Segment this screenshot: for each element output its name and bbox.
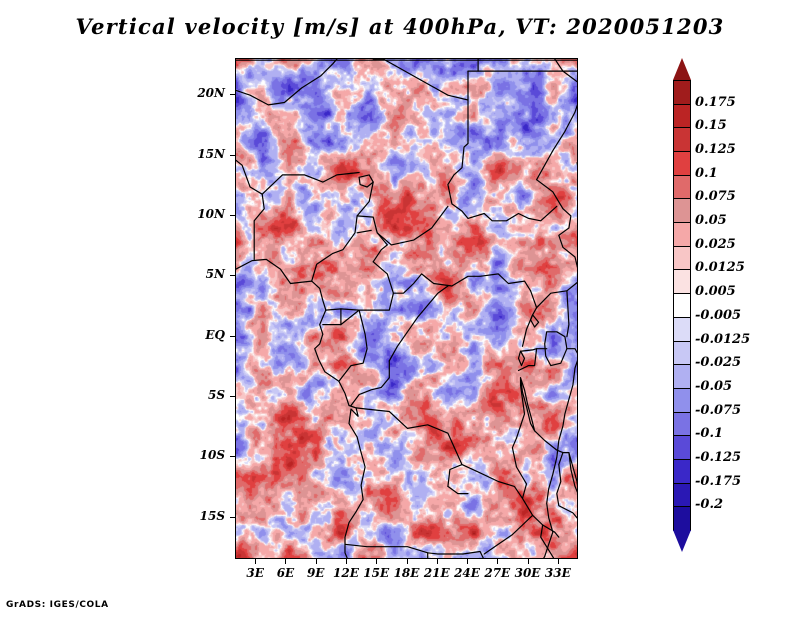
map-boundary-line [523, 498, 559, 537]
latitude-tick-mark [230, 94, 235, 95]
map-boundary-line [463, 552, 484, 560]
map-boundary-line [262, 173, 359, 195]
longitude-tick-mark [437, 559, 438, 564]
colorbar-tick-label: 0.175 [695, 95, 736, 110]
colorbar-tick-label: -0.05 [695, 379, 732, 394]
colorbar-tick-label: -0.1 [695, 426, 723, 441]
latitude-tick-label: 15N [179, 147, 225, 161]
colorbar-band [673, 80, 691, 105]
colorbar-band [673, 506, 691, 531]
colorbar-band [673, 388, 691, 413]
map-boundary-line [377, 206, 448, 245]
map-boundary-line [326, 293, 394, 310]
map-boundary-line [519, 351, 525, 366]
latitude-tick-label: EQ [179, 328, 225, 342]
colorbar-tick-label: -0.025 [695, 355, 741, 370]
colorbar-band [673, 175, 691, 200]
colorbar-tick-label: 0.05 [695, 213, 727, 228]
map-boundary-line [535, 431, 569, 453]
map-boundary-line [468, 206, 557, 221]
latitude-tick-label: 5S [179, 388, 225, 402]
colorbar-band [673, 459, 691, 484]
colorbar-band [673, 104, 691, 129]
map-boundary-line [448, 486, 468, 493]
colorbar-tick-label: -0.0125 [695, 332, 750, 347]
footer-credit: GrADS: IGES/COLA [6, 600, 109, 610]
latitude-tick-mark [230, 456, 235, 457]
colorbar-tick-label: 0.15 [695, 118, 727, 133]
colorbar-band [673, 151, 691, 176]
map-boundary-line [357, 230, 371, 232]
colorbar-tick-label: -0.175 [695, 474, 741, 489]
latitude-tick-label: 20N [179, 86, 225, 100]
map-boundary-line [569, 453, 578, 496]
colorbar-tick-label: 0.005 [695, 284, 736, 299]
map-boundary-line [577, 163, 578, 173]
page-title: Vertical velocity [m/s] at 400hPa, VT: 2… [0, 14, 800, 39]
map-boundary-line [567, 291, 569, 337]
latitude-tick-label: 10N [179, 207, 225, 221]
colorbar-band [673, 198, 691, 223]
map-boundary-line [462, 438, 527, 498]
colorbar-band [673, 222, 691, 247]
map-boundary-line [373, 245, 387, 262]
map-boundary-line [356, 408, 462, 487]
latitude-tick-label: 10S [179, 448, 225, 462]
colorbar-tick-label: -0.2 [695, 497, 723, 512]
map-boundary-line [339, 310, 367, 381]
latitude-tick-mark [230, 155, 235, 156]
colorbar-min-arrow [673, 530, 691, 552]
colorbar-tick-label: 0.0125 [695, 260, 745, 275]
map-boundary-line [351, 286, 448, 406]
map-boundary-line [236, 259, 365, 559]
longitude-tick-mark [376, 559, 377, 564]
colorbar-tick-label: 0.075 [695, 189, 736, 204]
longitude-tick-mark [497, 559, 498, 564]
map-boundary-line [383, 59, 468, 100]
map-boundary-line [545, 332, 567, 366]
longitude-tick-mark [407, 559, 408, 564]
longitude-tick-mark [558, 559, 559, 564]
map-boundary-line [341, 310, 359, 325]
colorbar: 0.1750.150.1250.10.0750.050.0250.01250.0… [673, 58, 691, 552]
latitude-tick-mark [230, 275, 235, 276]
colorbar-tick-label: 0.025 [695, 237, 736, 252]
latitude-tick-mark [230, 336, 235, 337]
latitude-tick-mark [230, 517, 235, 518]
longitude-tick-mark [285, 559, 286, 564]
latitude-tick-label: 15S [179, 509, 225, 523]
map-boundary-line [448, 100, 468, 218]
colorbar-tick-label: -0.075 [695, 403, 741, 418]
colorbar-max-arrow [673, 58, 691, 80]
longitude-tick-mark [316, 559, 317, 564]
longitude-tick-mark [255, 559, 256, 564]
map-plot-area [235, 58, 578, 559]
map-boundary-line [484, 515, 532, 554]
colorbar-band [673, 412, 691, 437]
colorbar-band [673, 317, 691, 342]
colorbar-tick-label: 0.125 [695, 142, 736, 157]
map-boundary-line [537, 100, 578, 180]
map-boundary-line [373, 262, 530, 293]
colorbar-tick-label: -0.005 [695, 308, 741, 323]
colorbar-band [673, 341, 691, 366]
longitude-tick-label: 33E [538, 566, 578, 580]
map-boundary-line [236, 59, 337, 105]
map-boundary-line [567, 349, 578, 356]
colorbar-band [673, 293, 691, 318]
latitude-tick-mark [230, 215, 235, 216]
colorbar-band [673, 435, 691, 460]
map-boundary-line [537, 180, 578, 274]
colorbar-tick-label: -0.125 [695, 450, 741, 465]
colorbar-band [673, 127, 691, 152]
map-boundary-line [357, 216, 387, 245]
map-boundary-line [345, 544, 463, 554]
map-boundary-line [537, 281, 578, 308]
map-boundary-line [236, 160, 264, 259]
colorbar-band [673, 364, 691, 389]
longitude-tick-mark [346, 559, 347, 564]
colorbar-tick-label: 0.1 [695, 166, 718, 181]
colorbar-band [673, 483, 691, 508]
map-boundary-line [359, 175, 373, 187]
longitude-tick-mark [528, 559, 529, 564]
map-boundary-line [523, 291, 537, 347]
country-borders-overlay [236, 59, 578, 559]
latitude-tick-mark [230, 396, 235, 397]
colorbar-band [673, 269, 691, 294]
longitude-tick-mark [467, 559, 468, 564]
colorbar-band [673, 246, 691, 271]
latitude-tick-label: 5N [179, 267, 225, 281]
